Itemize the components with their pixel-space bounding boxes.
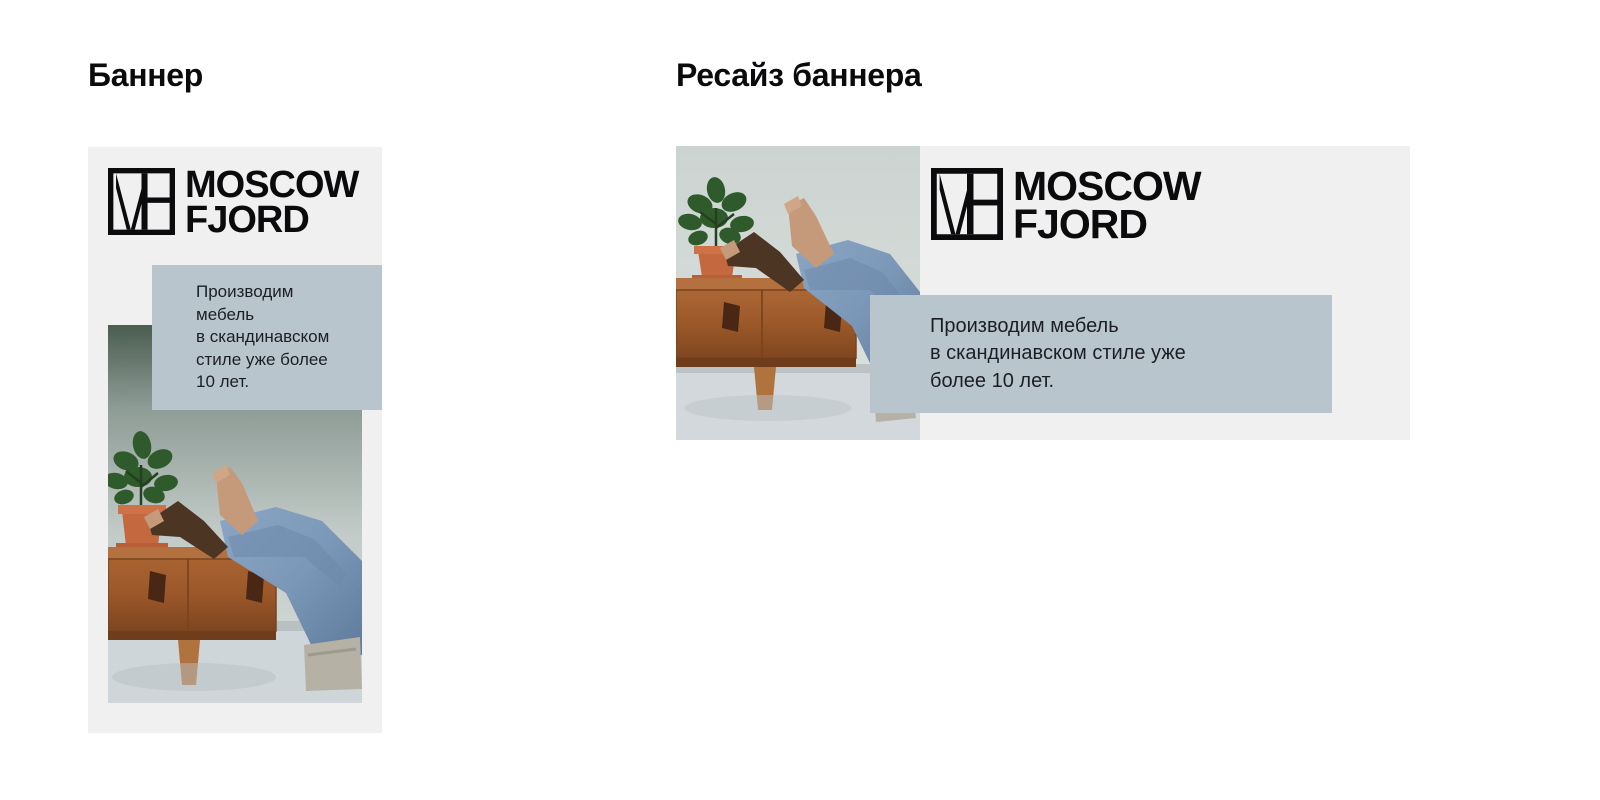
banner-caption-panel: Производим мебель в скандинавском стиле … (870, 295, 1332, 413)
brand-logo[interactable]: MOSCOW FJORD (931, 168, 1201, 243)
banner-caption-text: Производим мебель в скандинавском стиле … (196, 281, 329, 394)
moscow-fjord-monogram-icon (108, 168, 175, 235)
brand-wordmark: MOSCOW FJORD (1013, 168, 1201, 243)
page-title-banner: Баннер (88, 57, 203, 94)
brand-word-bottom: FJORD (185, 203, 358, 238)
page-title-banner-resize: Ресайз баннера (676, 57, 922, 94)
brand-word-bottom: FJORD (1013, 206, 1201, 244)
brand-word-top: MOSCOW (185, 168, 358, 203)
banner-vertical[interactable]: MOSCOW FJORD (88, 147, 382, 733)
banner-horizontal[interactable]: MOSCOW FJORD Производим мебель в скандин… (676, 146, 1410, 440)
banner-caption-text: Производим мебель в скандинавском стиле … (930, 313, 1186, 395)
brand-wordmark: MOSCOW FJORD (185, 168, 358, 238)
banner-caption-panel: Производим мебель в скандинавском стиле … (152, 265, 382, 410)
brand-logo[interactable]: MOSCOW FJORD (108, 168, 358, 238)
moscow-fjord-monogram-icon (931, 168, 1003, 240)
